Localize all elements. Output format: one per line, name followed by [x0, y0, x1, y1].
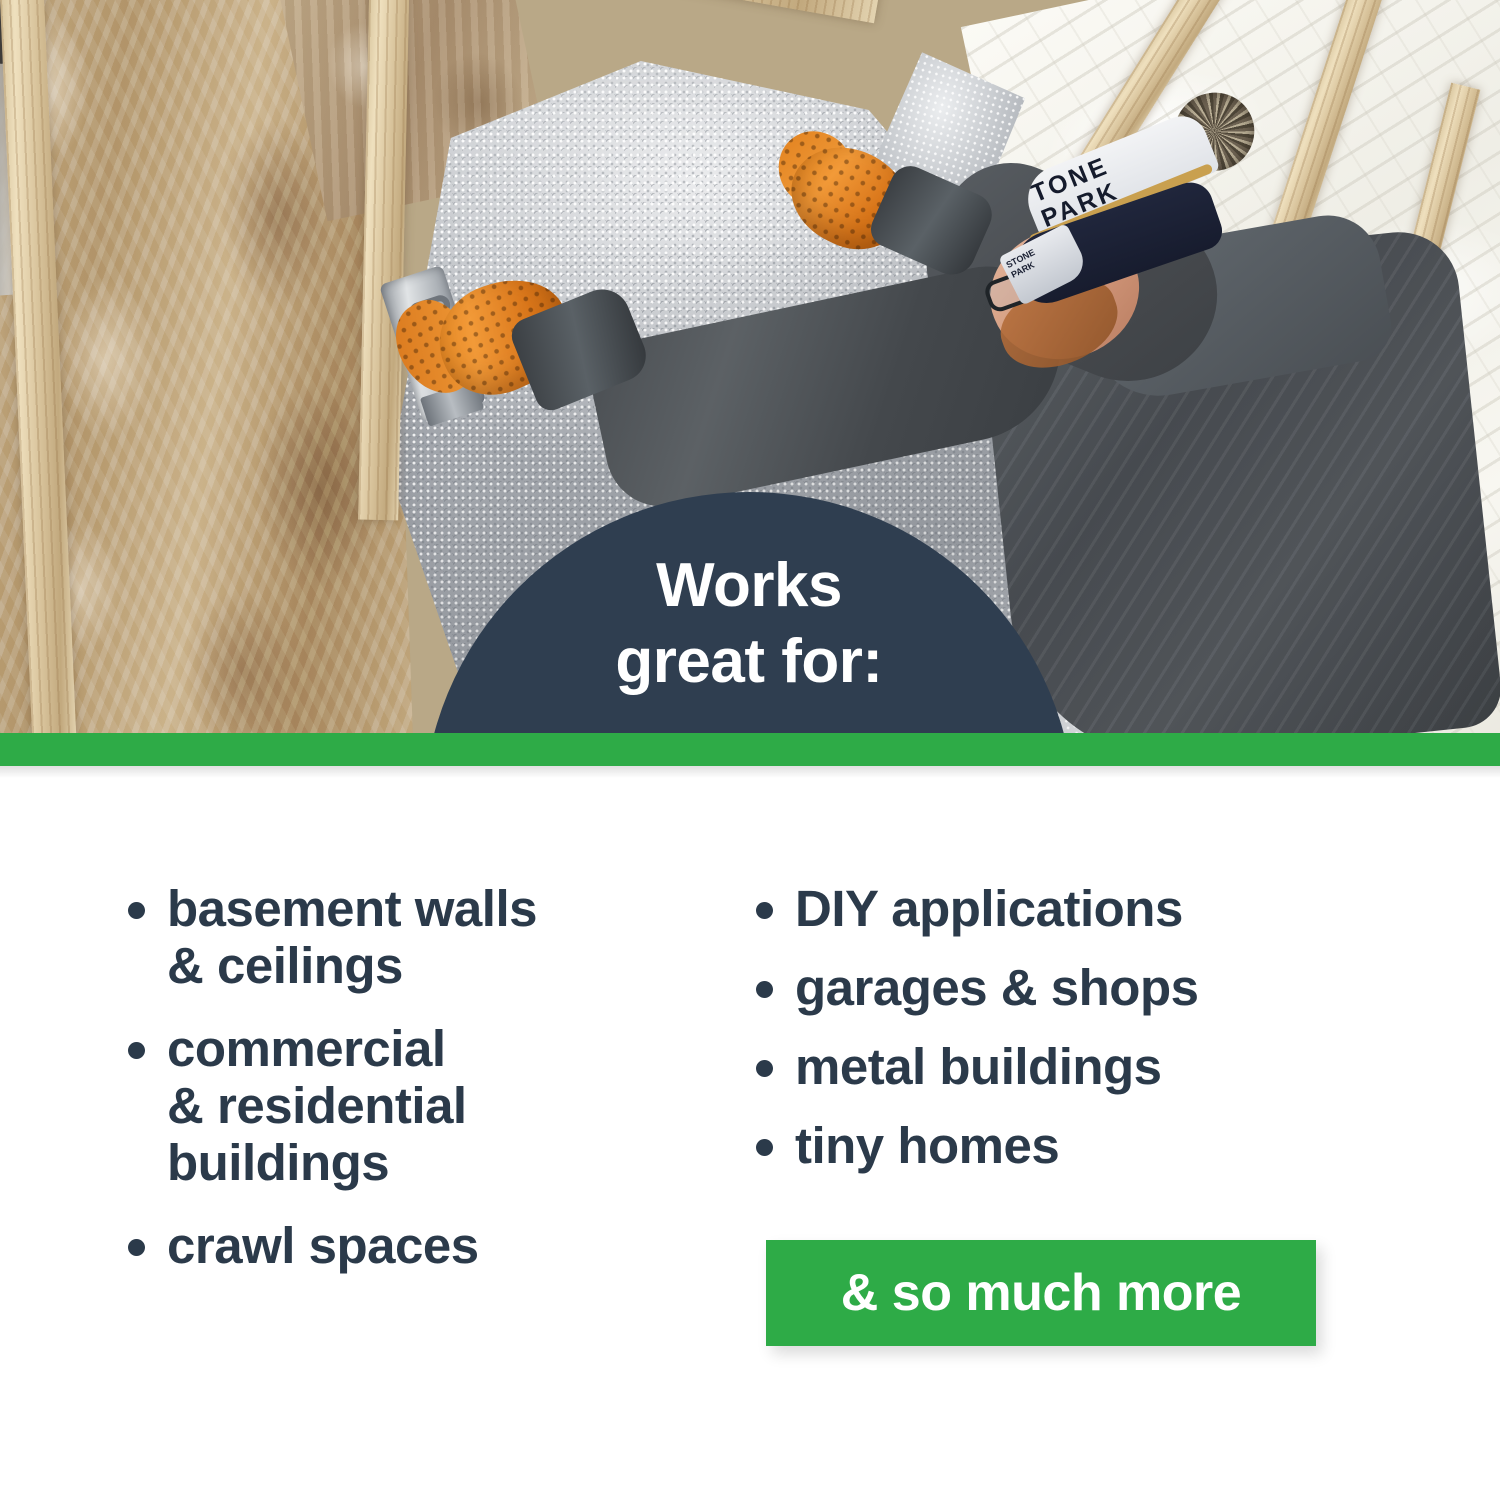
promo-graphic: TONE PARK STONE PARK Works great for:: [0, 0, 1500, 1500]
so-much-more-button[interactable]: & so much more: [766, 1240, 1316, 1346]
list-item: commercial & residential buildings: [128, 1020, 728, 1191]
wood-joist-top: [539, 0, 881, 23]
green-divider-bar: [0, 733, 1500, 766]
list-item: DIY applications: [756, 880, 1376, 937]
bullet-dot-icon: [756, 1060, 773, 1077]
list-item: metal buildings: [756, 1038, 1376, 1095]
list-item: garages & shops: [756, 959, 1376, 1016]
hero-photo: TONE PARK STONE PARK Works great for:: [0, 0, 1500, 734]
so-much-more-button-label: & so much more: [841, 1263, 1241, 1323]
bullet-dot-icon: [128, 902, 145, 919]
use-cases-column-right: DIY applications garages & shops metal b…: [756, 880, 1376, 1196]
use-cases-column-left: basement walls & ceilings commercial & r…: [128, 880, 728, 1300]
divider-shadow: [0, 766, 1500, 778]
list-item-label: metal buildings: [795, 1038, 1162, 1095]
headline-text-block: Works great for:: [423, 548, 1075, 700]
list-item-label: garages & shops: [795, 959, 1198, 1016]
beanie-patch-text: STONE PARK: [1004, 229, 1076, 280]
list-item-label: crawl spaces: [167, 1217, 479, 1274]
bullet-dot-icon: [128, 1042, 145, 1059]
list-item: crawl spaces: [128, 1217, 728, 1274]
headline-line-1: Works: [423, 548, 1075, 624]
bullet-dot-icon: [128, 1239, 145, 1256]
headline-line-2: great for:: [423, 624, 1075, 700]
list-item: tiny homes: [756, 1117, 1376, 1174]
list-item-label: DIY applications: [795, 880, 1183, 937]
bullet-dot-icon: [756, 902, 773, 919]
list-item-label: tiny homes: [795, 1117, 1059, 1174]
bullet-dot-icon: [756, 981, 773, 998]
bullet-dot-icon: [756, 1139, 773, 1156]
list-item: basement walls & ceilings: [128, 880, 728, 994]
list-item-label: commercial & residential buildings: [167, 1020, 467, 1191]
list-item-label: basement walls & ceilings: [167, 880, 537, 994]
